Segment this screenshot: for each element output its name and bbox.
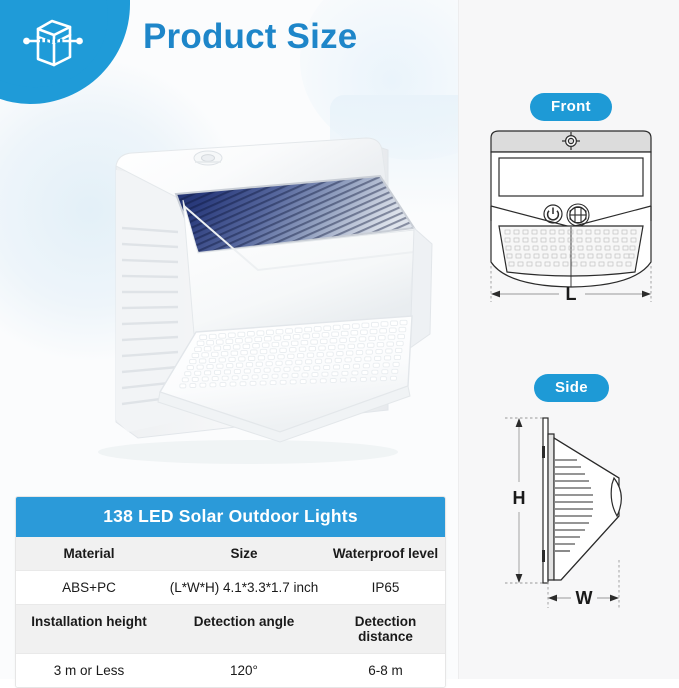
table-cell: IP65 <box>326 571 445 604</box>
front-view-badge: Front <box>530 93 612 121</box>
table-cell: 6-8 m <box>326 654 445 687</box>
table-cell: Installation height <box>16 605 162 653</box>
table-cell: (L*W*H) 4.1*3.3*1.7 inch <box>162 571 326 604</box>
front-view-diagram: L <box>471 126 671 306</box>
table-cell: ABS+PC <box>16 571 162 604</box>
side-view-diagram: H <box>481 410 661 615</box>
width-dimension-label: W <box>576 588 593 608</box>
spec-table: 138 LED Solar Outdoor Lights Material Si… <box>15 496 446 688</box>
height-dimension-label: H <box>513 488 526 508</box>
table-row: ABS+PC (L*W*H) 4.1*3.3*1.7 inch IP65 <box>16 570 445 604</box>
table-row: Material Size Waterproof level <box>16 537 445 570</box>
mount-screw <box>194 151 222 165</box>
front-motion-sensor-icon <box>567 204 589 226</box>
table-cell: Waterproof level <box>326 537 445 570</box>
box-dimension-icon <box>22 10 84 72</box>
solar-led-wall-light-photo <box>18 120 446 480</box>
page-title: Product Size <box>143 19 357 54</box>
length-dimension-label: L <box>566 284 577 304</box>
table-cell: 120° <box>162 654 326 687</box>
spec-table-title: 138 LED Solar Outdoor Lights <box>16 497 445 537</box>
side-view-badge: Side <box>534 374 609 402</box>
diagram-panel: Front <box>459 0 679 679</box>
table-cell: Material <box>16 537 162 570</box>
page-header: Product Size <box>0 0 460 104</box>
right-side-housing <box>410 228 432 348</box>
table-cell: 3 m or Less <box>16 654 162 687</box>
infographic-page: Product Size <box>0 0 679 679</box>
table-row: Installation height Detection angle Dete… <box>16 604 445 653</box>
table-cell: Detection angle <box>162 605 326 653</box>
table-row: 3 m or Less 120° 6-8 m <box>16 653 445 687</box>
table-cell: Size <box>162 537 326 570</box>
table-cell: Detection distance <box>326 605 445 653</box>
